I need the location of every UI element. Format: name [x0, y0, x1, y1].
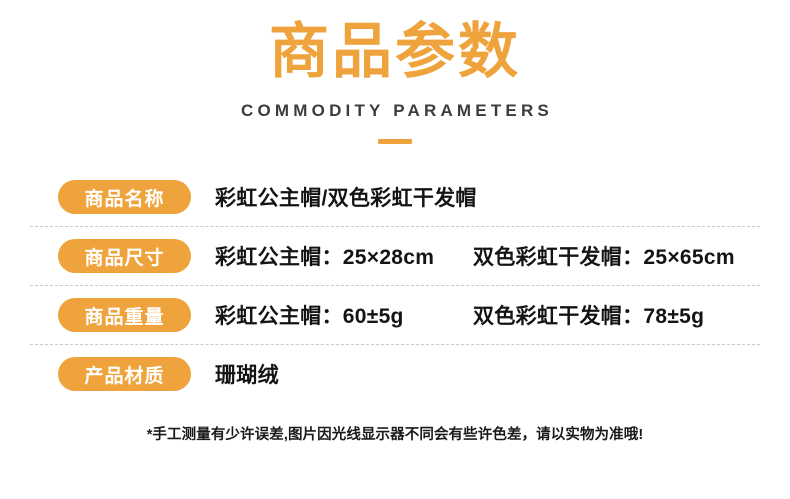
parameter-values-name: 彩虹公主帽/双色彩虹干发帽 — [215, 182, 477, 212]
parameter-row-size: 商品尺寸 彩虹公主帽：25×28cm 双色彩虹干发帽：25×65cm — [0, 227, 790, 285]
parameter-value: 双色彩虹干发帽：78±5g — [473, 300, 704, 330]
parameter-values-size: 彩虹公主帽：25×28cm 双色彩虹干发帽：25×65cm — [215, 241, 735, 271]
parameter-label-weight: 商品重量 — [58, 298, 191, 332]
parameter-row-material: 产品材质 珊瑚绒 — [0, 345, 790, 403]
parameter-label-size: 商品尺寸 — [58, 239, 191, 273]
parameter-values-material: 珊瑚绒 — [215, 359, 279, 389]
parameter-list: 商品名称 彩虹公主帽/双色彩虹干发帽 商品尺寸 彩虹公主帽：25×28cm 双色… — [0, 168, 790, 403]
page-header: 商品参数 COMMODITY PARAMETERS — [0, 0, 790, 144]
product-parameters-page: 商品参数 COMMODITY PARAMETERS 商品名称 彩虹公主帽/双色彩… — [0, 0, 790, 499]
parameter-value: 珊瑚绒 — [215, 359, 279, 389]
parameter-label-material: 产品材质 — [58, 357, 191, 391]
disclaimer-note: *手工测量有少许误差,图片因光线显示器不同会有些许色差，请以实物为准哦! — [0, 423, 790, 444]
title-divider-bar — [378, 139, 412, 144]
page-subtitle: COMMODITY PARAMETERS — [0, 100, 790, 122]
parameter-value: 彩虹公主帽：25×28cm — [215, 241, 439, 271]
page-title: 商品参数 — [0, 18, 790, 86]
parameter-row-weight: 商品重量 彩虹公主帽：60±5g 双色彩虹干发帽：78±5g — [0, 286, 790, 344]
parameter-row-name: 商品名称 彩虹公主帽/双色彩虹干发帽 — [0, 168, 790, 226]
parameter-value: 彩虹公主帽/双色彩虹干发帽 — [215, 182, 477, 212]
parameter-values-weight: 彩虹公主帽：60±5g 双色彩虹干发帽：78±5g — [215, 300, 704, 330]
parameter-label-name: 商品名称 — [58, 180, 191, 214]
parameter-value: 彩虹公主帽：60±5g — [215, 300, 439, 330]
parameter-value: 双色彩虹干发帽：25×65cm — [473, 241, 735, 271]
